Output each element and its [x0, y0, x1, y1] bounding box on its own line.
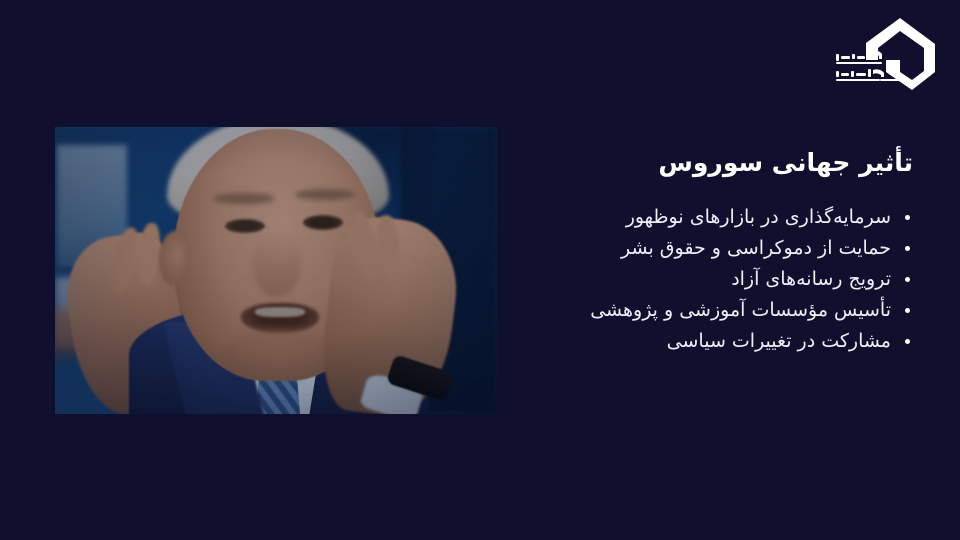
list-item: ترویج رسانه‌های آزاد: [493, 264, 913, 295]
presentation-slide: تأثیر جهانی سوروس سرمایه‌گذاری در بازاره…: [0, 0, 960, 540]
photo-vignette: [55, 127, 497, 414]
brand-logo: [822, 14, 940, 92]
bullet-list: سرمایه‌گذاری در بازارهای نوظهور حمایت از…: [493, 202, 913, 357]
list-item: حمایت از دموکراسی و حقوق بشر: [493, 233, 913, 264]
page-title: تأثیر جهانی سوروس: [493, 148, 913, 178]
photo-content: [55, 127, 497, 414]
slide-text-column: تأثیر جهانی سوروس سرمایه‌گذاری در بازاره…: [493, 148, 913, 357]
list-item: سرمایه‌گذاری در بازارهای نوظهور: [493, 202, 913, 233]
list-item: تأسیس مؤسسات آموزشی و پژوهشی: [493, 295, 913, 326]
list-item: مشارکت در تغییرات سیاسی: [493, 326, 913, 357]
soros-portrait-photo: [55, 127, 497, 414]
